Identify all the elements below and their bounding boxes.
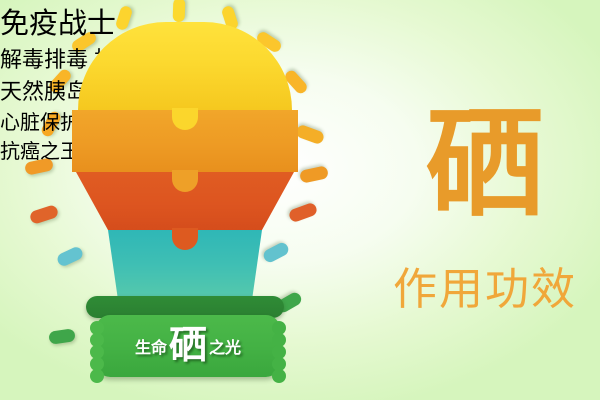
headline-selenium-char: 硒 <box>426 106 544 224</box>
base-label-selenium: 硒 <box>169 327 207 365</box>
lightbulb-infographic: 免疫战士 解毒排毒 抗氧化防衰老 天然胰岛素 肝病天敌 心脏保护神 抗癌之王 生… <box>0 0 370 400</box>
base-label-prefix: 生命 <box>135 334 167 358</box>
headline-subtitle: 作用功效 <box>393 268 577 312</box>
base-label-suffix: 之光 <box>209 334 241 358</box>
bulb-base-label: 生命 硒 之光 <box>96 315 280 377</box>
poster: 免疫战士 解毒排毒 抗氧化防衰老 天然胰岛素 肝病天敌 心脏保护神 抗癌之王 生… <box>0 0 600 400</box>
headline-block: 硒 作用功效 <box>370 0 600 400</box>
